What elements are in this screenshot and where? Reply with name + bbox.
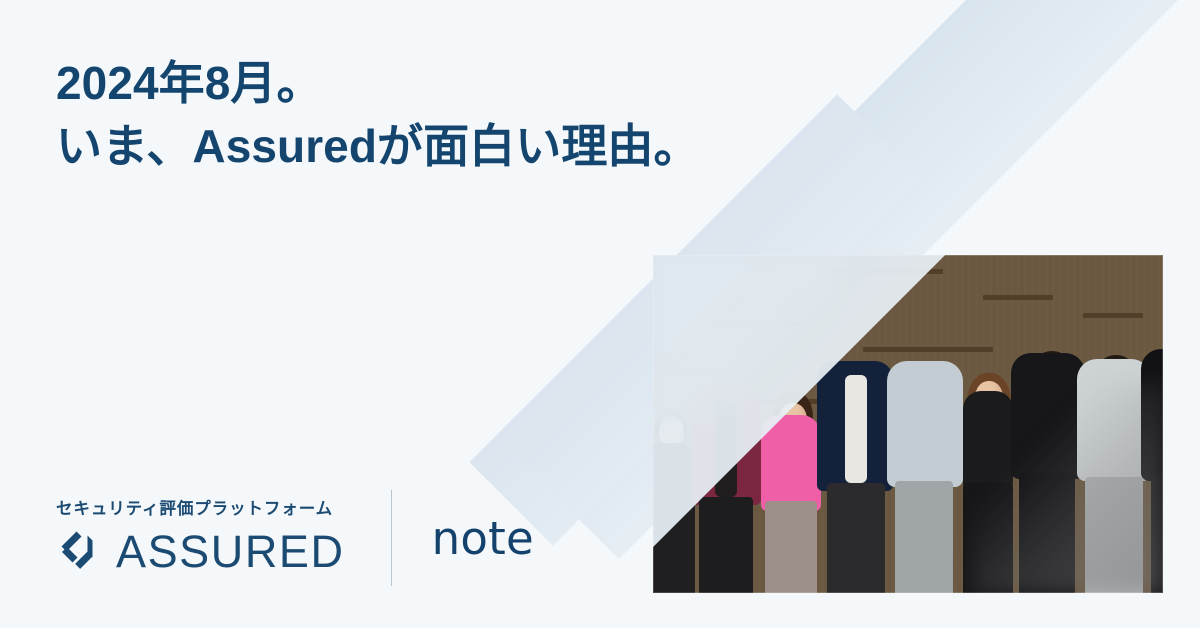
person-legs [765,501,817,593]
team-photo [653,255,1163,593]
wood-slat-accent [1083,313,1143,318]
person-legs [827,483,885,593]
photo-blur-bottom-right [973,383,1163,593]
headline-line-1: 2024年8月。 [56,52,700,115]
person-shirt [845,375,867,483]
og-image-canvas: 2024年8月。 いま、Assuredが面白い理由。 [0,0,1200,628]
person [885,357,965,593]
wood-slat-accent [983,295,1053,300]
note-wordmark: note [432,516,534,561]
assured-check-mark-icon [56,527,104,575]
person-legs [699,497,753,593]
person-legs [895,481,953,593]
assured-tagline: セキュリティ評価プラットフォーム [56,501,345,518]
person-torso [887,361,963,487]
headline-line-2: いま、Assuredが面白い理由。 [56,115,700,178]
team-photo-content [653,255,1163,593]
assured-logo: ASSURED [56,527,345,575]
assured-brand-block: セキュリティ評価プラットフォーム ASSURED [56,501,345,576]
headline: 2024年8月。 いま、Assuredが面白い理由。 [56,52,700,179]
assured-wordmark: ASSURED [116,529,345,574]
footer-logo-lockup: セキュリティ評価プラットフォーム ASSURED note [56,490,534,586]
lockup-divider [391,490,392,586]
